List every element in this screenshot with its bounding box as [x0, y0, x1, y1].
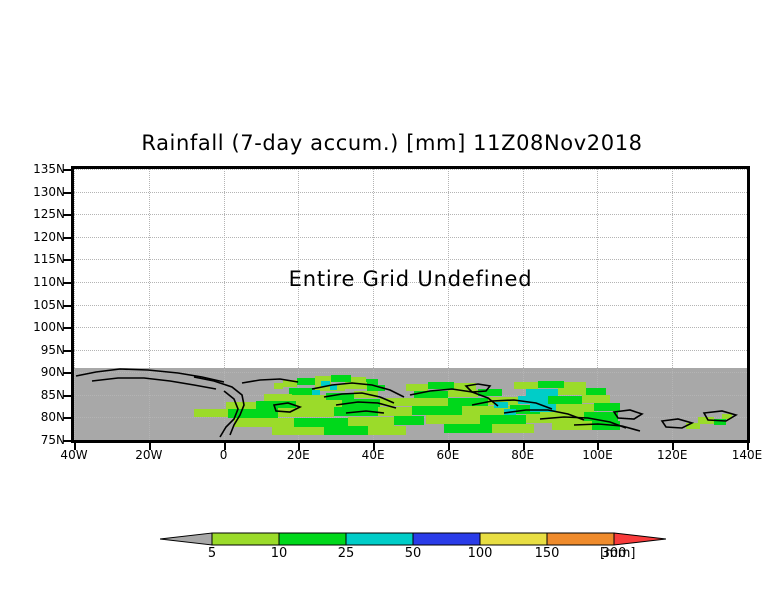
colorbar-bin-over: [614, 533, 666, 545]
y-axis-tick-label: 120N: [33, 230, 65, 244]
y-axis-tick-label: 110N: [33, 275, 65, 289]
colorbar-unit-label: [mm]: [600, 546, 635, 561]
y-axis-tick-label: 125N: [33, 207, 65, 221]
y-axis-tick-mark: [63, 214, 71, 216]
colorbar-tick-label: 50: [405, 546, 422, 561]
x-axis-tick-label: 20W: [135, 448, 162, 462]
precip-cells-band-upper: [194, 375, 424, 435]
x-axis-tick-mark: [523, 443, 525, 450]
y-axis-tick-mark: [63, 417, 71, 419]
page-title: Rainfall (7-day accum.) [mm] 11Z08Nov201…: [0, 131, 784, 155]
colorbar-bin: [212, 533, 279, 545]
colorbar-tick-labels: 5102550100150300: [0, 546, 784, 566]
y-axis-tick-label: 100N: [33, 320, 65, 334]
colorbar-bin: [413, 533, 480, 545]
colorbar-tick-label: 100: [468, 546, 493, 561]
y-axis-tick-mark: [63, 372, 71, 374]
x-axis-tick-label: 100E: [582, 448, 613, 462]
colorbar-tick-label: 10: [271, 546, 288, 561]
x-axis-tick-label: 60E: [436, 448, 459, 462]
colorbar-bin: [346, 533, 413, 545]
x-axis-tick-mark: [149, 443, 151, 450]
y-axis-tick-mark: [63, 395, 71, 397]
y-axis-tick-mark: [63, 350, 71, 352]
x-axis-tick-mark: [74, 443, 76, 450]
y-axis-tick-mark: [63, 305, 71, 307]
colorbar-bin: [480, 533, 547, 545]
y-axis-tick-label: 90N: [41, 365, 65, 379]
y-axis-tick-label: 130N: [33, 185, 65, 199]
colorbar-bin: [547, 533, 614, 545]
x-axis-tick-label: 120E: [657, 448, 688, 462]
y-axis-tick-mark: [63, 282, 71, 284]
y-axis-tick-mark: [63, 169, 71, 171]
x-axis-tick-mark: [672, 443, 674, 450]
colorbar-bins: [160, 533, 666, 545]
y-axis-tick-mark: [63, 327, 71, 329]
y-axis-tick-mark: [63, 192, 71, 194]
x-axis-tick-mark: [298, 443, 300, 450]
gridline-horizontal: [74, 440, 747, 441]
y-axis-tick-label: 80N: [41, 410, 65, 424]
y-axis-tick-label: 85N: [41, 388, 65, 402]
x-axis-tick-label: 40E: [362, 448, 385, 462]
x-axis-tick-mark: [597, 443, 599, 450]
gridline-vertical: [747, 169, 748, 440]
x-axis-tick-label: 20E: [287, 448, 310, 462]
y-axis-tick-mark: [63, 237, 71, 239]
x-axis-tick-label: 80E: [511, 448, 534, 462]
colorbar-bin: [279, 533, 346, 545]
y-axis-tick-mark: [63, 259, 71, 261]
y-axis-tick-mark: [63, 440, 71, 442]
colorbar-tick-label: 25: [338, 546, 355, 561]
y-axis-tick-label: 115N: [33, 252, 65, 266]
precipitation-raster: [74, 169, 747, 440]
map-plot-frame: Entire Grid Undefined: [71, 166, 750, 443]
x-axis-tick-mark: [747, 443, 749, 450]
y-axis-tick-label: 95N: [41, 343, 65, 357]
y-axis-tick-label: 135N: [33, 162, 65, 176]
colorbar-tick-label: 150: [535, 546, 560, 561]
x-axis-tick-mark: [448, 443, 450, 450]
y-axis-tick-label: 75N: [41, 433, 65, 447]
colorbar-bin-under: [160, 533, 212, 545]
x-axis-tick-label: 0: [220, 448, 228, 462]
y-axis-tick-label: 105N: [33, 298, 65, 312]
x-axis-tick-mark: [224, 443, 226, 450]
colorbar-tick-label: 5: [208, 546, 216, 561]
map-plot-area: Entire Grid Undefined: [74, 169, 747, 440]
x-axis-tick-label: 140E: [732, 448, 763, 462]
x-axis-tick-mark: [373, 443, 375, 450]
x-axis-tick-label: 40W: [60, 448, 87, 462]
undefined-grid-message: Entire Grid Undefined: [74, 267, 747, 291]
